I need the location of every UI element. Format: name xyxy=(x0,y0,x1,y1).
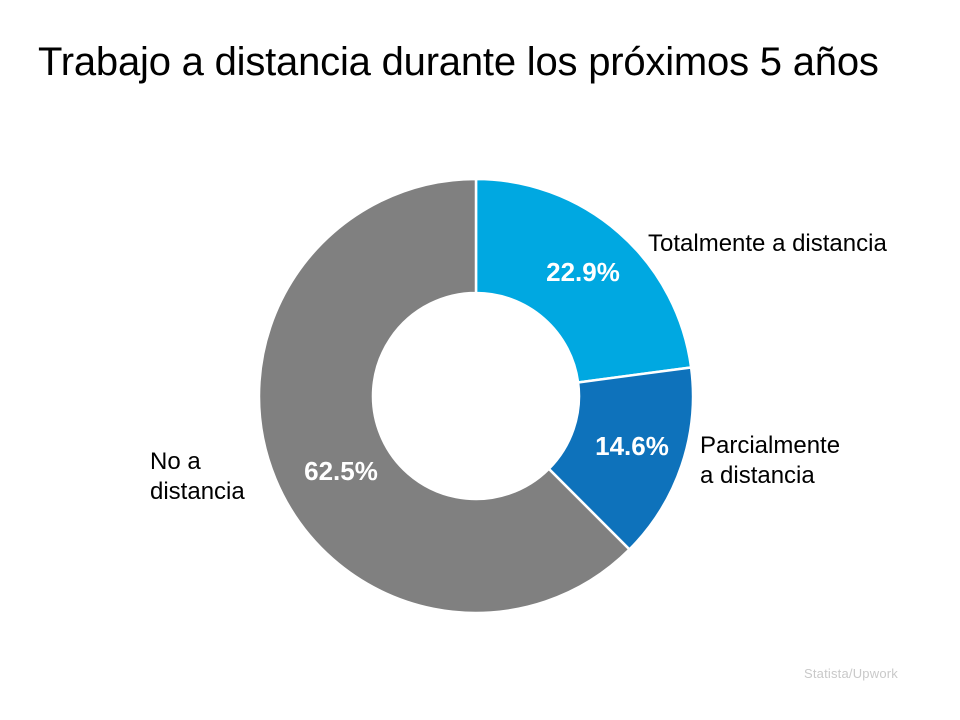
category-label-line: Parcialmente xyxy=(700,431,840,461)
category-label-line: distancia xyxy=(150,477,245,507)
category-label-line: No a xyxy=(150,447,245,477)
donut-slice-group xyxy=(259,179,693,613)
category-label-line: a distancia xyxy=(700,461,840,491)
category-label-no-a-distancia: No a distancia xyxy=(150,447,245,507)
category-label-line: Totalmente a distancia xyxy=(648,229,887,259)
slice-value-label: 22.9% xyxy=(546,257,620,287)
donut-chart: 22.9%14.6%62.5% xyxy=(0,0,960,720)
donut-chart-svg: 22.9%14.6%62.5% xyxy=(0,0,960,720)
slice-value-label: 14.6% xyxy=(595,431,669,461)
slice-value-label: 62.5% xyxy=(304,456,378,486)
source-attribution: Statista/Upwork xyxy=(804,666,898,681)
category-label-totalmente-a-distancia: Totalmente a distancia xyxy=(648,229,887,259)
slide-canvas: Trabajo a distancia durante los próximos… xyxy=(0,0,960,720)
category-label-parcialmente-a-distancia: Parcialmente a distancia xyxy=(700,431,840,491)
